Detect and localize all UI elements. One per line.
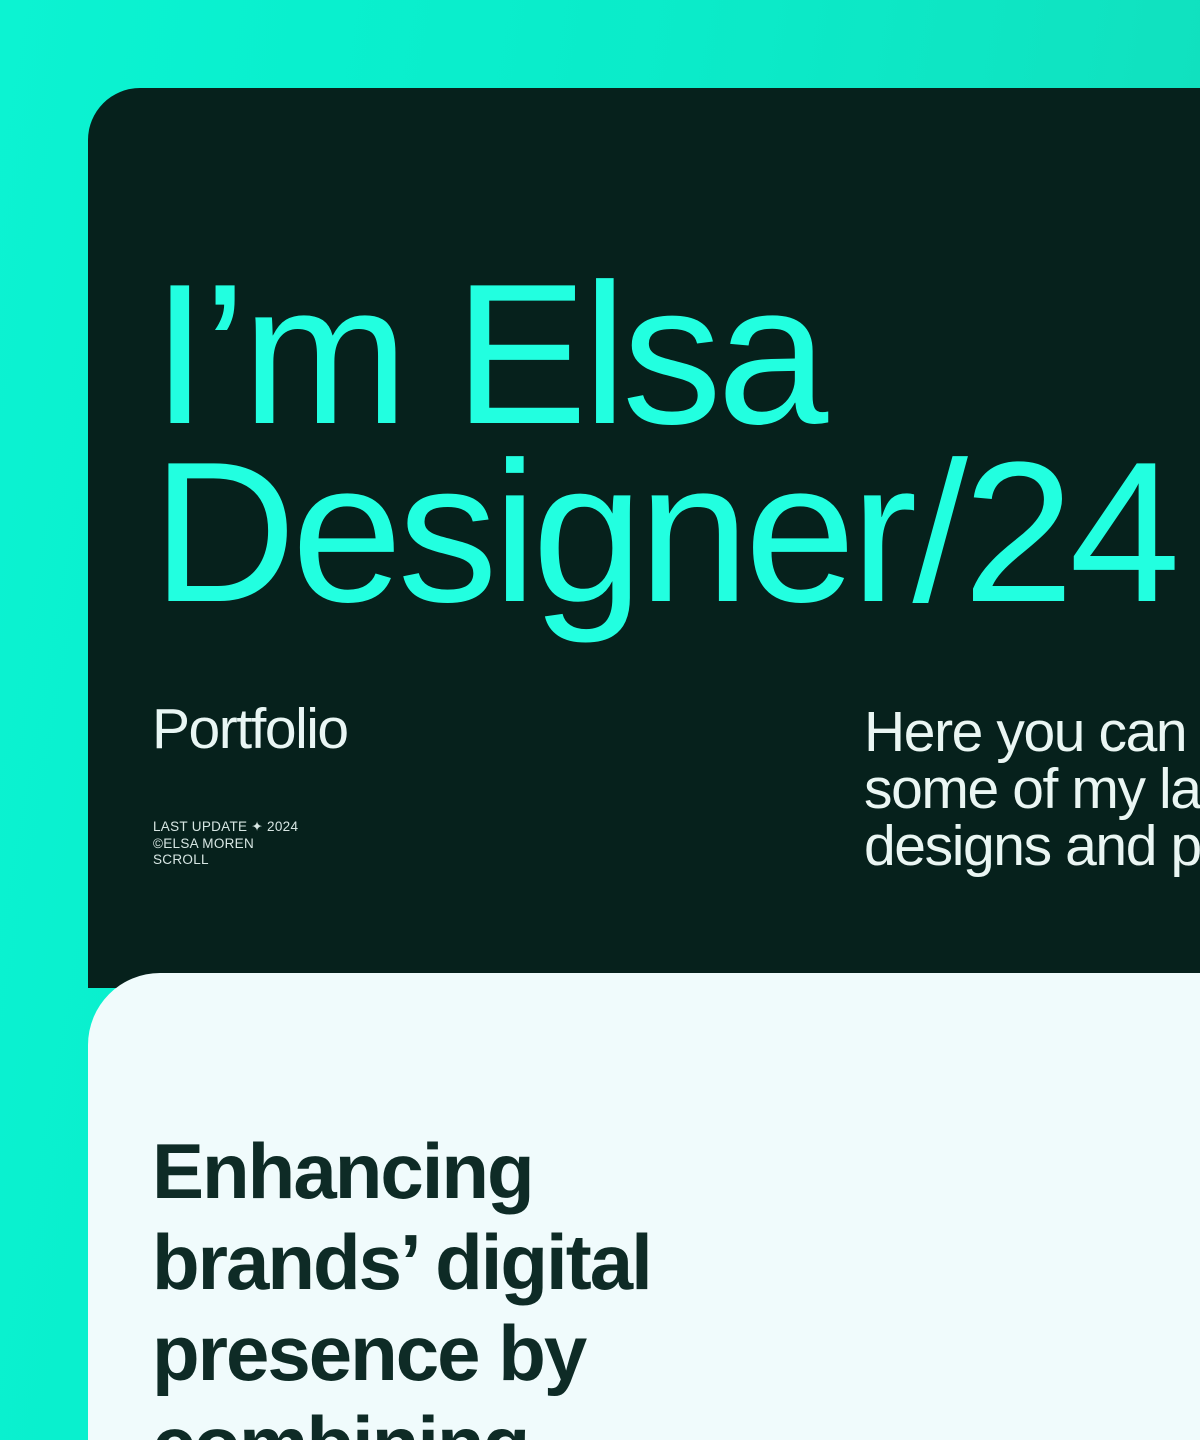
portfolio-label: Portfolio bbox=[152, 698, 348, 760]
intro-line-1: Here you can find bbox=[864, 704, 1200, 761]
statement-panel: Enhancing brands’ digital presence by co… bbox=[88, 973, 1200, 1440]
meta-copyright: ©ELSA MOREN bbox=[153, 836, 298, 853]
headline-line-1: I’m Elsa bbox=[152, 266, 1200, 444]
hero-card: I’m Elsa Designer/24 Portfolio LAST UPDA… bbox=[88, 88, 1200, 988]
statement-line-1: Enhancing bbox=[152, 1126, 912, 1217]
page-title: I’m Elsa Designer/24 bbox=[152, 266, 1200, 622]
statement-heading: Enhancing brands’ digital presence by co… bbox=[152, 1126, 912, 1440]
statement-line-2: brands’ digital bbox=[152, 1217, 912, 1308]
meta-info-stack: LAST UPDATE ✦ 2024 ©ELSA MOREN SCROLL bbox=[153, 819, 298, 869]
headline-line-2: Designer/24 bbox=[152, 444, 1200, 622]
meta-last-update: LAST UPDATE ✦ 2024 bbox=[153, 819, 298, 836]
intro-paragraph: Here you can find some of my latest desi… bbox=[864, 704, 1200, 875]
intro-line-3: designs and projects bbox=[864, 818, 1200, 875]
statement-line-3: presence by bbox=[152, 1308, 912, 1399]
intro-line-2: some of my latest bbox=[864, 761, 1200, 818]
statement-line-4: combining bbox=[152, 1399, 912, 1440]
meta-scroll-hint[interactable]: SCROLL bbox=[153, 852, 298, 869]
